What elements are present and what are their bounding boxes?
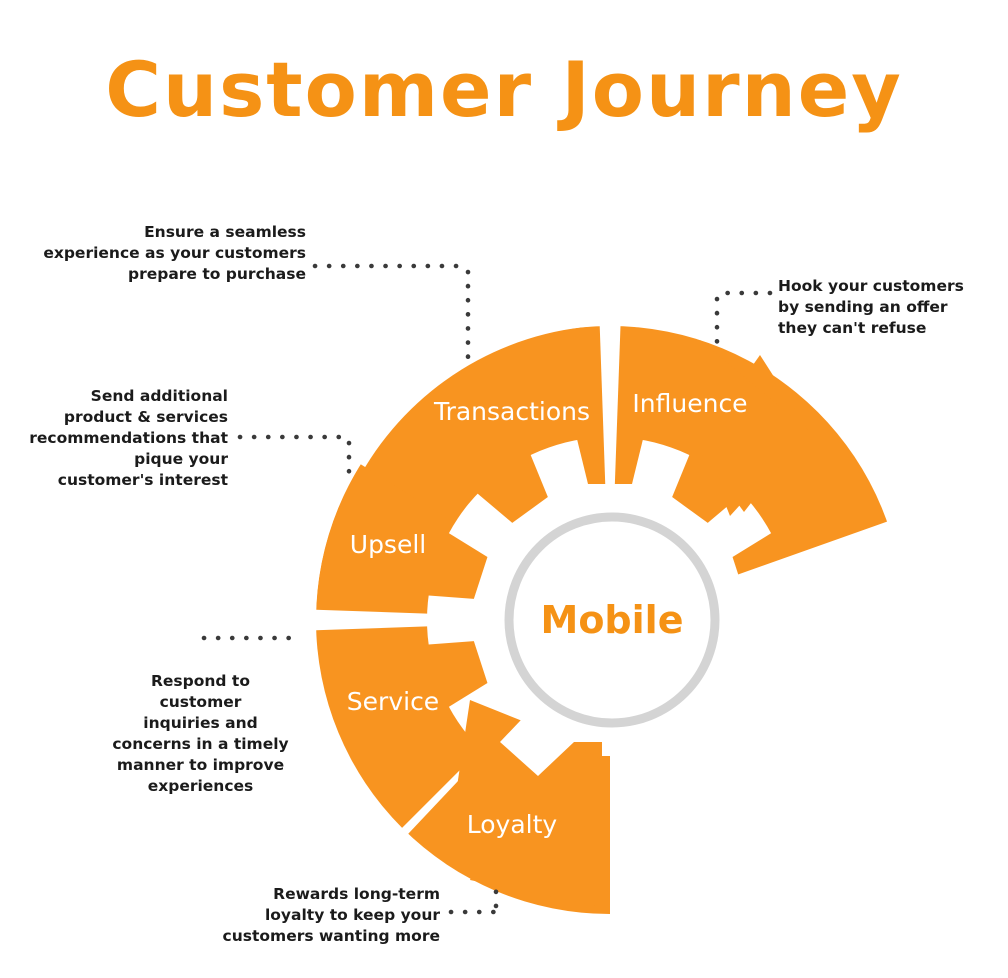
callout-loyalty: Rewards long-term loyalty to keep your c… — [200, 884, 440, 947]
segment-label-upsell: Upsell — [350, 530, 426, 559]
hub-label: Mobile — [541, 598, 684, 642]
segment-label-loyalty: Loyalty — [467, 810, 558, 839]
callout-transactions: Ensure a seamless experience as your cus… — [20, 222, 306, 285]
segment-label-service: Service — [347, 687, 439, 716]
infographic-canvas: Customer Journey — [0, 0, 1008, 978]
callout-upsell: Send additional product & services recom… — [10, 386, 228, 491]
callout-influence: Hook your customers by sending an offer … — [778, 276, 998, 339]
callout-service: Respond to customer inquiries and concer… — [108, 671, 293, 797]
segment-label-transactions: Transactions — [433, 397, 590, 426]
segment-label-influence: Influence — [632, 389, 747, 418]
